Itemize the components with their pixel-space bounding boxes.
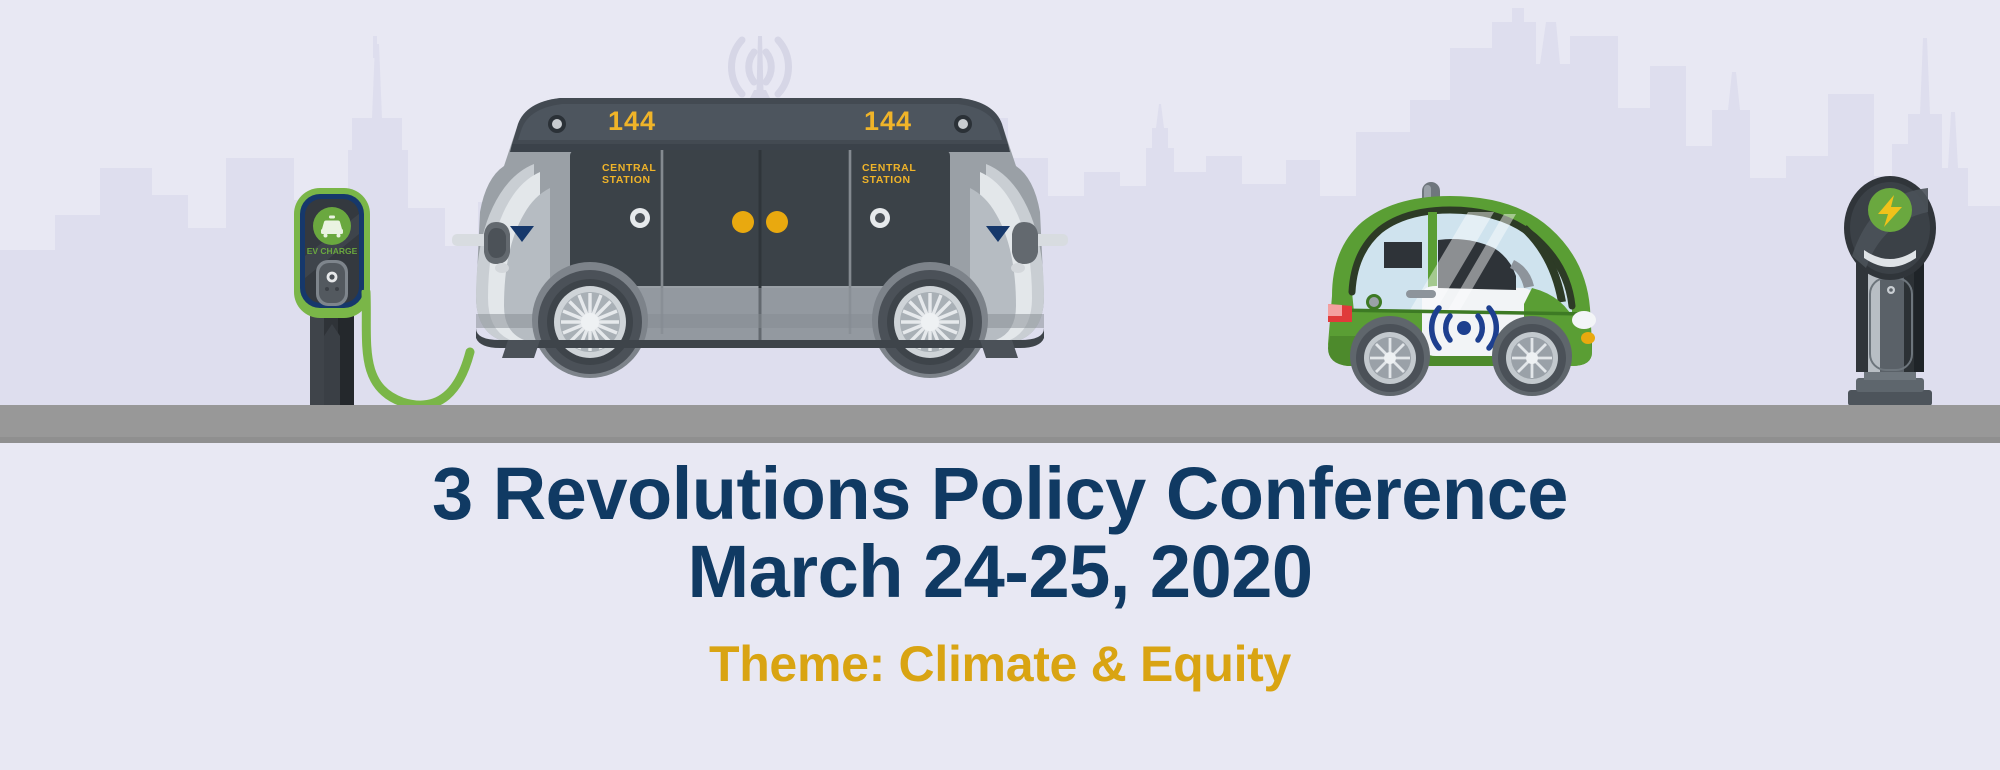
shuttle-destination-right-2: STATION xyxy=(862,174,911,186)
title-line-2: March 24-25, 2020 xyxy=(0,533,2000,611)
shuttle-route-number-left: 144 xyxy=(608,106,656,136)
illustration-scene: EV CHARGE xyxy=(0,0,2000,410)
banner-text-block: 3 Revolutions Policy Conference March 24… xyxy=(0,455,2000,691)
shuttle-destination-left: CENTRAL xyxy=(602,162,656,174)
shuttle-destination-right: CENTRAL xyxy=(862,162,916,174)
autonomous-shuttle[interactable]: 144 144 CENTRAL STATION CENTRAL STATION xyxy=(430,82,1090,410)
door-indicator-1 xyxy=(732,211,754,233)
autonomous-green-car[interactable] xyxy=(1318,176,1618,410)
title-line-1: 3 Revolutions Policy Conference xyxy=(432,452,1568,535)
shuttle-destination-left-2: STATION xyxy=(602,174,651,186)
conference-banner: EV CHARGE xyxy=(0,0,2000,770)
ev-charging-pillar-right[interactable] xyxy=(1820,172,1960,410)
charger-screen-label: EV CHARGE xyxy=(307,246,358,256)
shuttle-route-number-right: 144 xyxy=(864,106,912,136)
conference-title: 3 Revolutions Policy Conference March 24… xyxy=(0,455,2000,611)
door-indicator-2 xyxy=(766,211,788,233)
conference-theme: Theme: Climate & Equity xyxy=(0,637,2000,691)
